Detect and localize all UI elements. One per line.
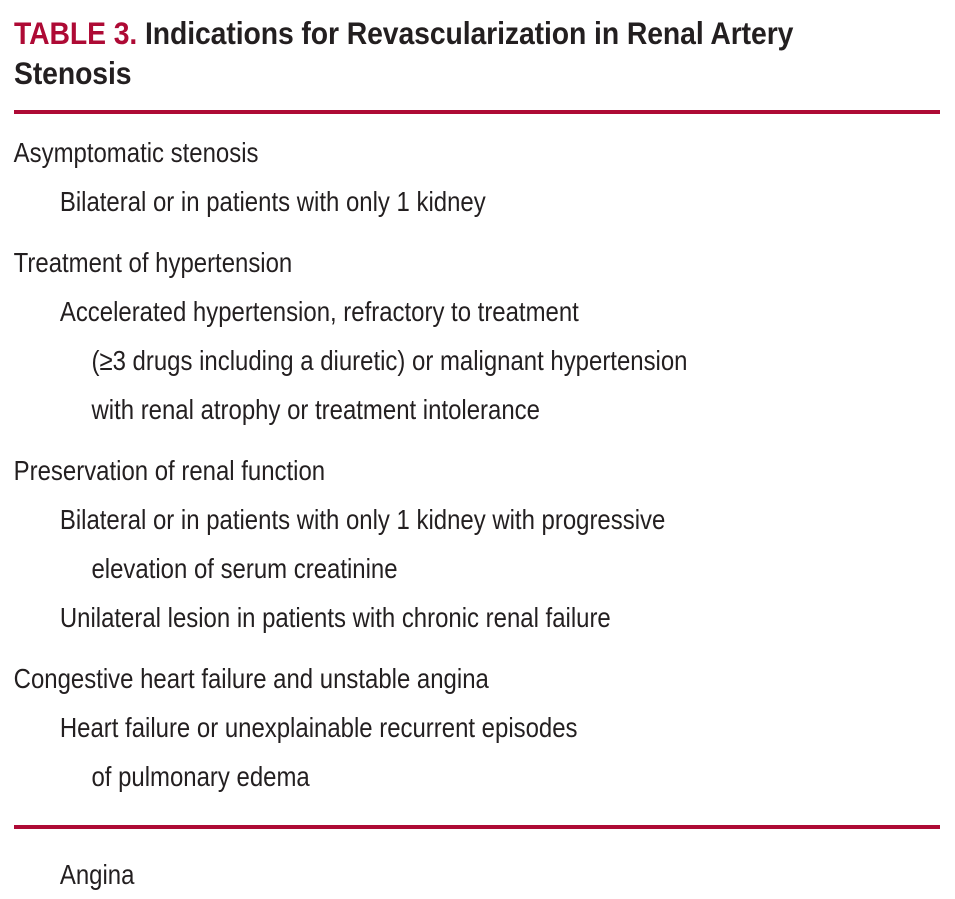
section-detail-line: of pulmonary edema bbox=[0, 752, 817, 801]
table-body: Asymptomatic stenosisBilateral or in pat… bbox=[0, 128, 955, 899]
section-detail-line: Bilateral or in patients with only 1 kid… bbox=[0, 495, 817, 544]
section-detail-line: Heart failure or unexplainable recurrent… bbox=[0, 703, 817, 752]
section-detail-line: Angina bbox=[0, 850, 817, 899]
section-heading: Treatment of hypertension bbox=[0, 238, 817, 287]
section-detail-line: elevation of serum creatinine bbox=[0, 544, 817, 593]
table-section: Asymptomatic stenosisBilateral or in pat… bbox=[0, 128, 955, 226]
table-section: Congestive heart failure and unstable an… bbox=[0, 654, 955, 899]
section-detail-line: Bilateral or in patients with only 1 kid… bbox=[0, 177, 817, 226]
section-detail-line: Unilateral lesion in patients with chron… bbox=[0, 593, 817, 642]
section-heading: Congestive heart failure and unstable an… bbox=[0, 654, 817, 703]
section-heading: Preservation of renal function bbox=[0, 446, 817, 495]
bottom-accent-rule bbox=[14, 825, 940, 829]
table-number-label: TABLE 3. bbox=[14, 15, 137, 51]
table-title: TABLE 3. Indications for Revascularizati… bbox=[14, 13, 824, 93]
table-section: Treatment of hypertensionAccelerated hyp… bbox=[0, 238, 955, 434]
section-detail-line: (≥3 drugs including a diuretic) or malig… bbox=[0, 336, 817, 385]
top-accent-rule bbox=[14, 110, 940, 114]
section-heading: Asymptomatic stenosis bbox=[0, 128, 817, 177]
section-detail-line: Accelerated hypertension, refractory to … bbox=[0, 287, 817, 336]
table-figure: TABLE 3. Indications for Revascularizati… bbox=[0, 0, 955, 842]
section-detail-line: with renal atrophy or treatment intolera… bbox=[0, 385, 817, 434]
table-section: Preservation of renal functionBilateral … bbox=[0, 446, 955, 642]
